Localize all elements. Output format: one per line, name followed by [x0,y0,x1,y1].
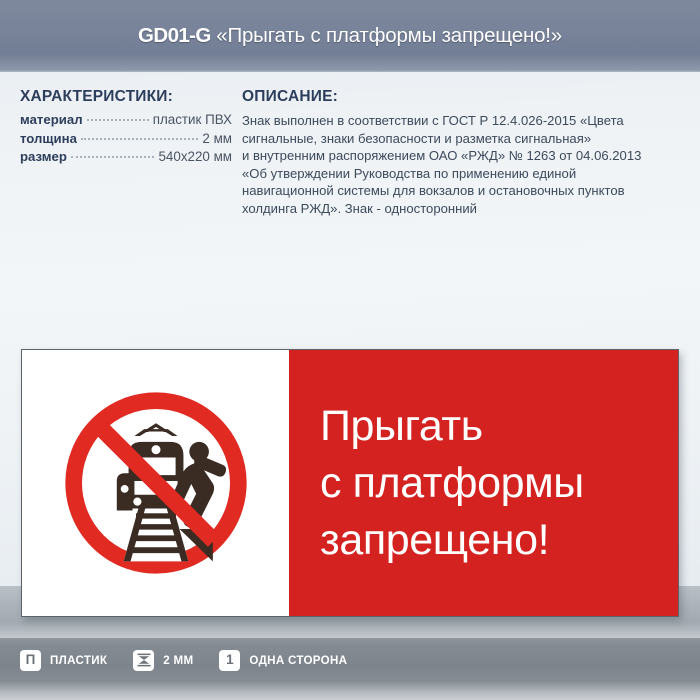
characteristic-value: 540x220 мм [158,149,232,164]
header-bar: GD01-G «Прыгать с платформы запрещено!» [0,0,700,72]
footer-bar: П ПЛАСТИК 2 ММ 1 [0,638,700,700]
characteristic-row: толщина 2 мм [20,131,232,146]
footer-item-sides: 1 ОДНА СТОРОНА [219,650,347,671]
characteristic-row: размер 540x220 мм [20,149,232,164]
sign-text-area: Прыгать с платформы запрещено! [289,350,678,616]
footer-label-sides: ОДНА СТОРОНА [249,654,347,667]
description-line: и внутренним распоряжением ОАО «РЖД» № 1… [242,147,688,165]
plastic-material-icon: П [20,650,41,671]
leader-dots [87,119,149,121]
leader-dots [71,156,155,158]
description-text: Знак выполнен в соответствии с ГОСТ Р 12… [242,112,688,218]
characteristic-value: пластик ПВХ [153,112,232,127]
characteristic-value: 2 мм [202,131,232,146]
characteristic-label: размер [20,149,67,164]
description-heading: ОПИСАНИЕ: [242,88,688,106]
description-line: «Об утверждении Руководства по применени… [242,165,688,183]
product-name: «Прыгать с платформы запрещено!» [216,24,562,47]
characteristic-row: материал пластик ПВХ [20,112,232,127]
thickness-icon-glyph [137,653,151,667]
info-section: ХАРАКТЕРИСТИКИ: материал пластик ПВХ тол… [0,72,700,272]
one-side-icon: 1 [219,650,240,671]
leader-dots [81,138,198,140]
thickness-icon [133,650,154,671]
description-line: Знак выполнен в соответствии с ГОСТ Р 12… [242,112,688,130]
plastic-material-icon-glyph: П [26,653,36,667]
description-line: сигнальные, знаки безопасности и разметк… [242,130,688,148]
sign-text-line: с платформы [320,455,678,512]
footer-item-thickness: 2 ММ [133,650,193,671]
product-code: GD01-G [138,24,211,47]
sign-text-line: Прыгать [320,398,678,455]
footer-label-material: ПЛАСТИК [50,654,107,667]
description-line: навигационной системы для вокзалов и ост… [242,182,688,200]
page-title: GD01-G «Прыгать с платформы запрещено!» [138,24,562,48]
description-line: холдинга РЖД». Знак - односторонний [242,200,688,218]
product-card: GD01-G «Прыгать с платформы запрещено!» … [0,0,700,700]
characteristic-label: толщина [20,131,77,146]
one-side-icon-glyph: 1 [226,653,234,667]
characteristics-block: ХАРАКТЕРИСТИКИ: материал пластик ПВХ тол… [20,88,232,168]
characteristics-heading: ХАРАКТЕРИСТИКИ: [20,88,232,106]
description-block: ОПИСАНИЕ: Знак выполнен в соответствии с… [242,88,688,218]
sign-text-line: запрещено! [320,512,678,569]
sign-preview: Прыгать с платформы запрещено! [21,349,679,617]
sign-pictogram-area [22,350,289,616]
no-jumping-from-platform-prohibition-icon [58,385,254,581]
footer-label-thickness: 2 ММ [163,654,193,667]
characteristic-label: материал [20,112,83,127]
footer-item-material: П ПЛАСТИК [20,650,107,671]
